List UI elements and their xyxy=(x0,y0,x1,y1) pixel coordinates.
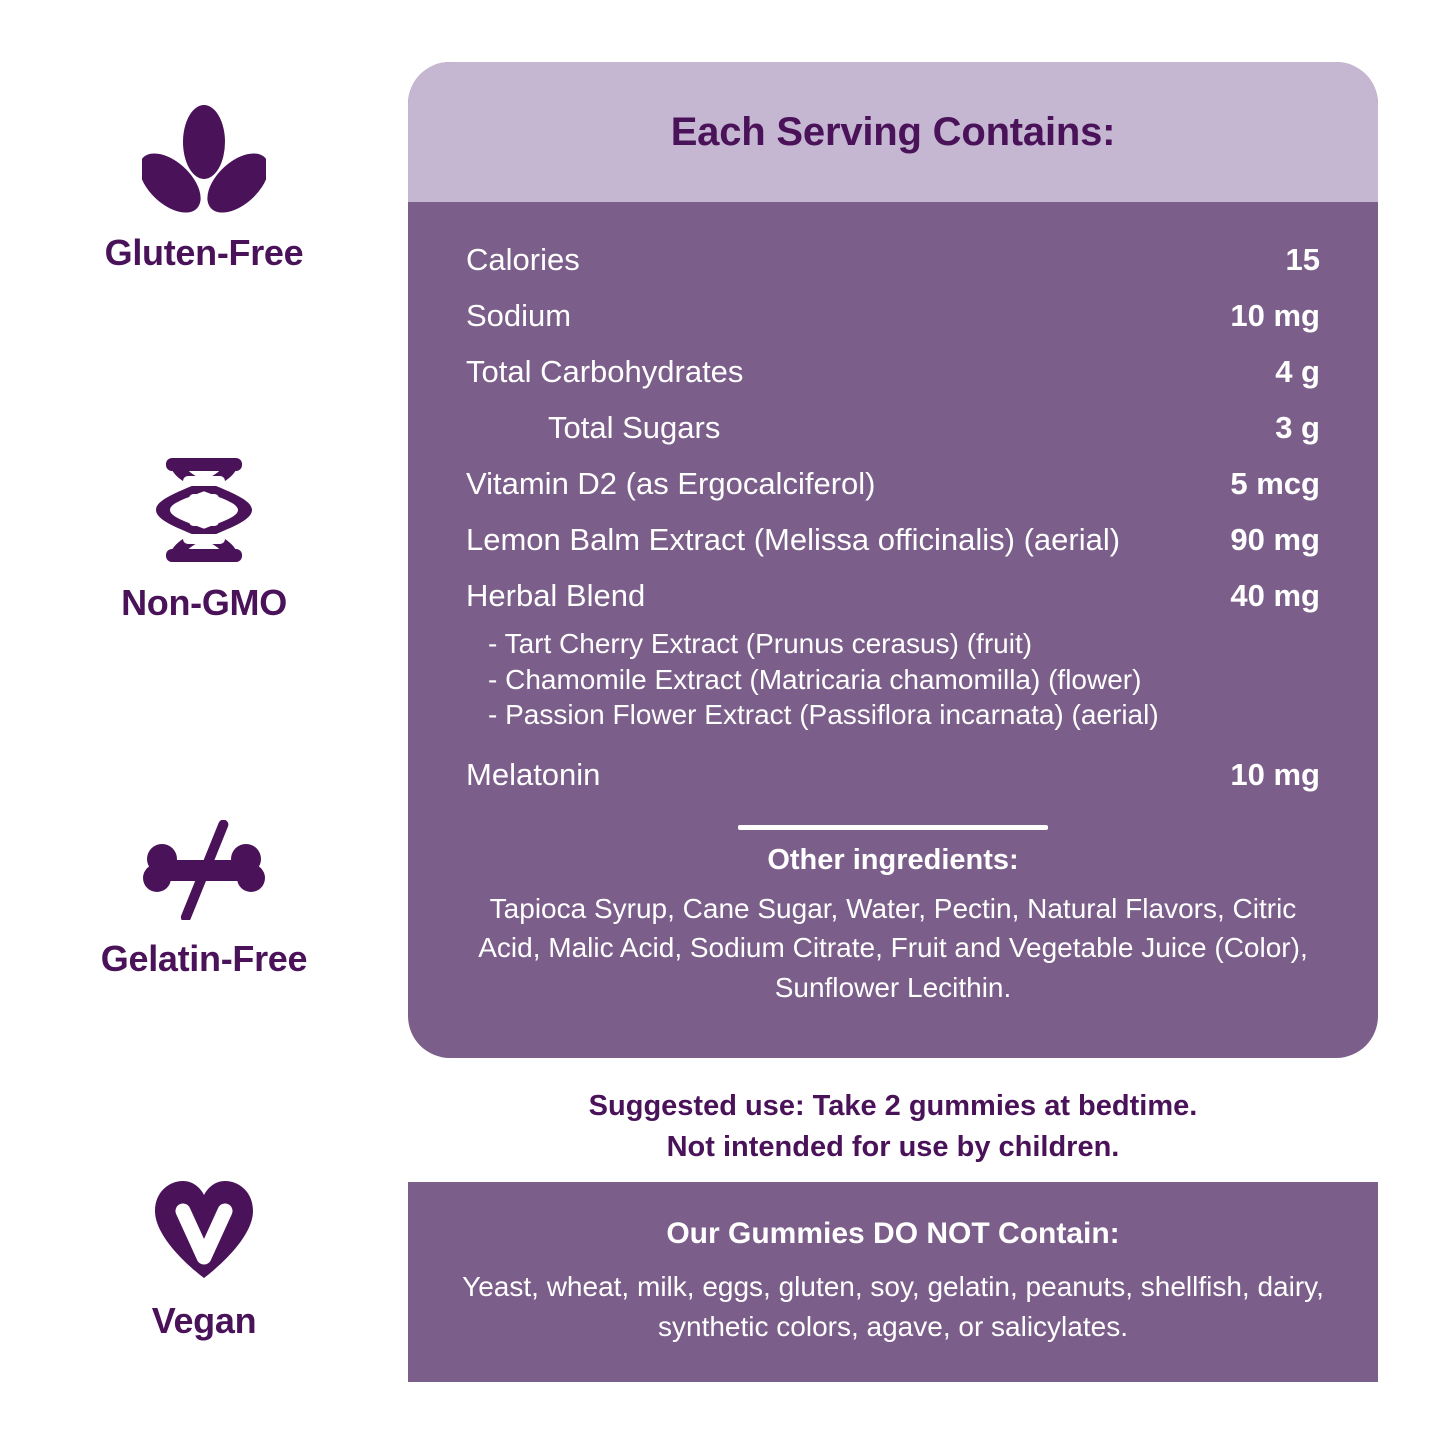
nutrient-row-vitamin-d2: Vitamin D2 (as Ergocalciferol) 5 mcg xyxy=(466,456,1320,512)
badge-gluten-free: Gluten-Free xyxy=(0,104,408,274)
nutrient-value: 3 g xyxy=(1275,410,1320,446)
nutrient-label: Herbal Blend xyxy=(466,578,645,614)
nutrient-label: Total Carbohydrates xyxy=(466,354,743,390)
badge-label: Gluten-Free xyxy=(105,232,304,274)
other-ingredients-body: Tapioca Syrup, Cane Sugar, Water, Pectin… xyxy=(466,889,1320,1008)
nutrient-label: Sodium xyxy=(466,298,571,334)
nutrient-value: 90 mg xyxy=(1230,522,1320,558)
badge-label: Non-GMO xyxy=(121,582,287,624)
badge-non-gmo: Non-GMO xyxy=(0,456,408,624)
list-item: - Tart Cherry Extract (Prunus cerasus) (… xyxy=(488,626,1320,662)
suggested-use-line-2: Not intended for use by children. xyxy=(408,1127,1378,1168)
leaf-icon xyxy=(142,104,266,214)
herbal-blend-sublist: - Tart Cherry Extract (Prunus cerasus) (… xyxy=(466,626,1320,733)
allergen-free-body: Yeast, wheat, milk, eggs, gluten, soy, g… xyxy=(444,1267,1342,1347)
badge-label: Gelatin-Free xyxy=(101,938,307,980)
nutrient-label: Melatonin xyxy=(466,757,600,793)
nutrient-label: Lemon Balm Extract (Melissa officinalis)… xyxy=(466,522,1120,558)
list-item: - Chamomile Extract (Matricaria chamomil… xyxy=(488,662,1320,698)
section-divider xyxy=(738,825,1048,830)
nutrient-label: Calories xyxy=(466,242,580,278)
allergen-free-panel: Our Gummies DO NOT Contain: Yeast, wheat… xyxy=(408,1182,1378,1382)
suggested-use-block: Suggested use: Take 2 gummies at bedtime… xyxy=(408,1086,1378,1168)
nutrient-row-herbal-blend: Herbal Blend 40 mg xyxy=(466,568,1320,624)
nutrient-value: 10 mg xyxy=(1230,298,1320,334)
dna-icon xyxy=(156,456,252,564)
list-item: - Passion Flower Extract (Passiflora inc… xyxy=(488,697,1320,733)
nutrient-value: 10 mg xyxy=(1230,757,1320,793)
badge-gelatin-free: Gelatin-Free xyxy=(0,820,408,980)
nutrient-row-total-carbohydrates: Total Carbohydrates 4 g xyxy=(466,344,1320,400)
facts-card-header: Each Serving Contains: xyxy=(408,62,1378,202)
nutrient-row-calories: Calories 15 xyxy=(466,232,1320,288)
facts-title: Each Serving Contains: xyxy=(671,110,1116,155)
nutrient-value: 4 g xyxy=(1275,354,1320,390)
nutrient-row-sodium: Sodium 10 mg xyxy=(466,288,1320,344)
supplement-facts-card: Each Serving Contains: Calories 15 Sodiu… xyxy=(408,62,1378,1058)
nutrient-label: Vitamin D2 (as Ergocalciferol) xyxy=(466,466,875,502)
allergen-free-title: Our Gummies DO NOT Contain: xyxy=(666,1217,1119,1251)
suggested-use-line-1: Suggested use: Take 2 gummies at bedtime… xyxy=(408,1086,1378,1127)
nutrient-row-lemon-balm-extract: Lemon Balm Extract (Melissa officinalis)… xyxy=(466,512,1320,568)
certification-badge-column: Gluten-Free Non-GMO xyxy=(0,0,408,1445)
nutrient-value: 15 xyxy=(1286,242,1320,278)
badge-label: Vegan xyxy=(152,1300,257,1342)
nutrient-label: Total Sugars xyxy=(466,410,720,446)
badge-vegan: Vegan xyxy=(0,1178,408,1342)
nutrient-row-total-sugars: Total Sugars 3 g xyxy=(466,400,1320,456)
vegan-heart-icon xyxy=(151,1178,257,1282)
facts-card-body: Calories 15 Sodium 10 mg Total Carbohydr… xyxy=(408,202,1378,1008)
nutrient-value: 40 mg xyxy=(1230,578,1320,614)
nutrient-value: 5 mcg xyxy=(1230,466,1320,502)
bone-slash-icon xyxy=(138,820,270,920)
supplement-facts-page: Gluten-Free Non-GMO xyxy=(0,0,1445,1445)
other-ingredients-title: Other ingredients: xyxy=(466,844,1320,877)
nutrient-row-melatonin: Melatonin 10 mg xyxy=(466,733,1320,803)
